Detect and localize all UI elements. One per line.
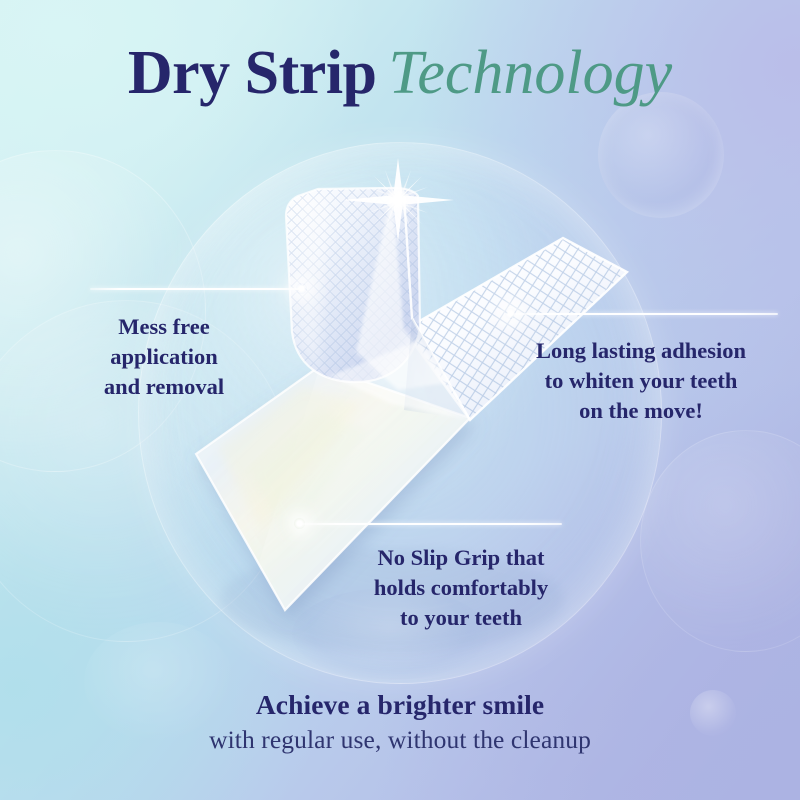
dry-strip-technology-poster: Dry StripTechnology Mess free applicatio… — [0, 0, 800, 800]
leader-dot-no-slip-grip — [294, 518, 305, 529]
leader-dot-mess-free — [296, 283, 307, 294]
callout-no-slip-grip: No Slip Grip that holds comfortably to y… — [334, 543, 588, 633]
sparkle-glint-icon — [342, 158, 454, 242]
background-bubble-icon — [640, 430, 800, 652]
strip-upper-lobe — [286, 188, 470, 420]
background-bubble-icon — [0, 150, 206, 472]
callout-mess-free: Mess free application and removal — [52, 312, 276, 402]
callout-long-lasting: Long lasting adhesion to whiten your tee… — [500, 336, 782, 426]
leader-line-mess-free — [90, 288, 302, 290]
callout-mess-free-text: Mess free application and removal — [52, 312, 276, 402]
footer-headline: Achieve a brighter smile — [0, 689, 800, 721]
background-bubble-icon — [598, 92, 724, 218]
leader-dot-long-lasting — [505, 308, 516, 319]
footer-block: Achieve a brighter smile with regular us… — [0, 689, 800, 756]
leader-line-no-slip-grip — [300, 523, 562, 525]
footer-subline: with regular use, without the cleanup — [0, 724, 800, 756]
page-title: Dry StripTechnology — [0, 38, 800, 109]
title-bold-part: Dry Strip — [128, 39, 377, 107]
callout-no-slip-grip-text: No Slip Grip that holds comfortably to y… — [334, 543, 588, 633]
leader-line-long-lasting — [510, 313, 778, 315]
callout-long-lasting-text: Long lasting adhesion to whiten your tee… — [500, 336, 782, 426]
title-italic-part: Technology — [389, 39, 673, 107]
